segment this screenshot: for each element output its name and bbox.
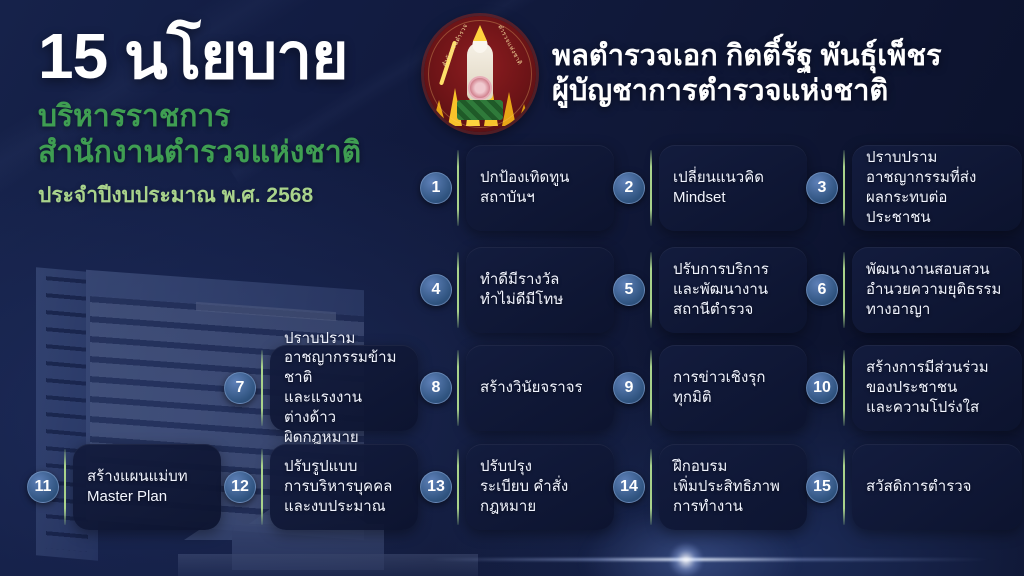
policy-card[interactable]: ฝึกอบรม เพิ่มประสิทธิภาพ การทำงาน [659,444,807,530]
royal-thai-police-emblem-icon: สำนักงานตำรวจ ตำรวจแห่งชาติ [424,16,536,132]
chief-text-block: พลตำรวจเอก กิตติ์รัฐ พันธุ์เพ็ชร ผู้บัญช… [552,39,942,110]
policy-item-8[interactable]: 8สร้างวินัยจราจร [420,345,614,431]
policy-card-text: ปราบปราม อาชญากรรมข้ามชาติ และแรงงานต่าง… [284,329,404,448]
policy-card-text: สวัสดิการตำรวจ [866,477,971,497]
policy-card-text: ปรับปรุง ระเบียบ คำสั่ง กฎหมาย [480,457,568,516]
policy-card[interactable]: พัฒนางานสอบสวน อำนวยความยุติธรรม ทางอาญา [852,247,1022,333]
policy-card[interactable]: ปราบปราม อาชญากรรมข้ามชาติ และแรงงานต่าง… [270,345,418,431]
policy-item-2[interactable]: 2เปลี่ยนแนวคิด Mindset [613,145,807,231]
policy-item-1[interactable]: 1ปกป้องเทิดทูน สถาบันฯ [420,145,614,231]
policy-accent-line [843,252,845,328]
page-title: 15 นโยบาย [38,24,428,89]
infographic-poster: 15 นโยบาย บริหารราชการ สำนักงานตำรวจแห่ง… [0,0,1024,576]
policy-item-5[interactable]: 5ปรับการบริการ และพัฒนางาน สถานีตำรวจ [613,247,807,333]
emblem-ring [428,20,532,128]
policy-accent-line [650,150,652,226]
policy-card[interactable]: ปรับรูปแบบ การบริหารบุคคล และงบประมาณ [270,444,418,530]
policy-card-text: ปกป้องเทิดทูน สถาบันฯ [480,168,569,208]
policy-item-9[interactable]: 9การข่าวเชิงรุก ทุกมิติ [613,345,807,431]
policy-accent-line [843,150,845,226]
policy-item-15[interactable]: 15สวัสดิการตำรวจ [806,444,1022,530]
policy-card-text: การข่าวเชิงรุก ทุกมิติ [673,368,765,408]
policy-card[interactable]: เปลี่ยนแนวคิด Mindset [659,145,807,231]
policy-card[interactable]: สวัสดิการตำรวจ [852,444,1022,530]
policy-number-badge: 12 [224,471,256,503]
policy-accent-line [457,350,459,426]
policy-number-badge: 13 [420,471,452,503]
policy-number-badge: 8 [420,372,452,404]
policy-card[interactable]: การข่าวเชิงรุก ทุกมิติ [659,345,807,431]
policy-accent-line [650,252,652,328]
policy-item-13[interactable]: 13ปรับปรุง ระเบียบ คำสั่ง กฎหมาย [420,444,614,530]
policy-accent-line [457,252,459,328]
policy-card-text: ปรับการบริการ และพัฒนางาน สถานีตำรวจ [673,260,769,319]
policy-item-11[interactable]: 11สร้างแผนแม่บท Master Plan [27,444,221,530]
subtitle-line-2: สำนักงานตำรวจแห่งชาติ [38,135,428,170]
policy-card-text: สร้างการมีส่วนร่วม ของประชาชน และความโปร… [866,358,989,417]
policy-card[interactable]: สร้างวินัยจราจร [466,345,614,431]
policy-accent-line [843,350,845,426]
policy-accent-line [843,449,845,525]
policy-number-badge: 7 [224,372,256,404]
policy-card-text: ปรับรูปแบบ การบริหารบุคคล และงบประมาณ [284,457,392,516]
policy-number-badge: 9 [613,372,645,404]
policy-number-badge: 6 [806,274,838,306]
policy-card-text: ทำดีมีรางวัล ทำไม่ดีมีโทษ [480,270,563,310]
policy-accent-line [650,449,652,525]
policy-card-text: สร้างแผนแม่บท Master Plan [87,467,188,507]
policy-number-badge: 3 [806,172,838,204]
policy-card-text: สร้างวินัยจราจร [480,378,583,398]
policy-card-text: ปราบปราม อาชญากรรมที่ส่ง ผลกระทบต่อประชา… [866,148,1008,227]
policy-card[interactable]: ปกป้องเทิดทูน สถาบันฯ [466,145,614,231]
policy-number-badge: 11 [27,471,59,503]
policy-card[interactable]: ปราบปราม อาชญากรรมที่ส่ง ผลกระทบต่อประชา… [852,145,1022,231]
policy-item-4[interactable]: 4ทำดีมีรางวัล ทำไม่ดีมีโทษ [420,247,614,333]
policy-card[interactable]: สร้างแผนแม่บท Master Plan [73,444,221,530]
policy-accent-line [457,150,459,226]
policy-accent-line [457,449,459,525]
policy-number-badge: 2 [613,172,645,204]
policy-card[interactable]: ทำดีมีรางวัล ทำไม่ดีมีโทษ [466,247,614,333]
fiscal-year-label: ประจำปีงบประมาณ พ.ศ. 2568 [38,179,428,212]
policy-accent-line [261,350,263,426]
policy-card-text: พัฒนางานสอบสวน อำนวยความยุติธรรม ทางอาญา [866,260,1001,319]
policy-accent-line [261,449,263,525]
policy-number-badge: 5 [613,274,645,306]
policy-accent-line [64,449,66,525]
policy-card[interactable]: ปรับปรุง ระเบียบ คำสั่ง กฎหมาย [466,444,614,530]
policy-card-text: ฝึกอบรม เพิ่มประสิทธิภาพ การทำงาน [673,457,780,516]
policy-card[interactable]: สร้างการมีส่วนร่วม ของประชาชน และความโปร… [852,345,1022,431]
policy-number-badge: 10 [806,372,838,404]
chief-role: ผู้บัญชาการตำรวจแห่งชาติ [552,74,942,109]
policy-accent-line [650,350,652,426]
policy-item-14[interactable]: 14ฝึกอบรม เพิ่มประสิทธิภาพ การทำงาน [613,444,807,530]
policy-card[interactable]: ปรับการบริการ และพัฒนางาน สถานีตำรวจ [659,247,807,333]
policy-card-text: เปลี่ยนแนวคิด Mindset [673,168,764,208]
policy-number-badge: 14 [613,471,645,503]
policy-item-10[interactable]: 10สร้างการมีส่วนร่วม ของประชาชน และความโ… [806,345,1022,431]
policy-number-badge: 15 [806,471,838,503]
policy-item-6[interactable]: 6พัฒนางานสอบสวน อำนวยความยุติธรรม ทางอาญ… [806,247,1022,333]
headline-block: 15 นโยบาย บริหารราชการ สำนักงานตำรวจแห่ง… [38,24,428,212]
chief-header-block: สำนักงานตำรวจ ตำรวจแห่งชาติ พลตำรวจเอก ก… [424,16,942,132]
policy-item-7[interactable]: 7ปราบปราม อาชญากรรมข้ามชาติ และแรงงานต่า… [224,345,418,431]
subtitle-line-1: บริหารราชการ [38,99,428,134]
chief-name: พลตำรวจเอก กิตติ์รัฐ พันธุ์เพ็ชร [552,39,942,74]
policy-item-12[interactable]: 12ปรับรูปแบบ การบริหารบุคคล และงบประมาณ [224,444,418,530]
policy-number-badge: 4 [420,274,452,306]
policy-item-3[interactable]: 3ปราบปราม อาชญากรรมที่ส่ง ผลกระทบต่อประช… [806,145,1022,231]
